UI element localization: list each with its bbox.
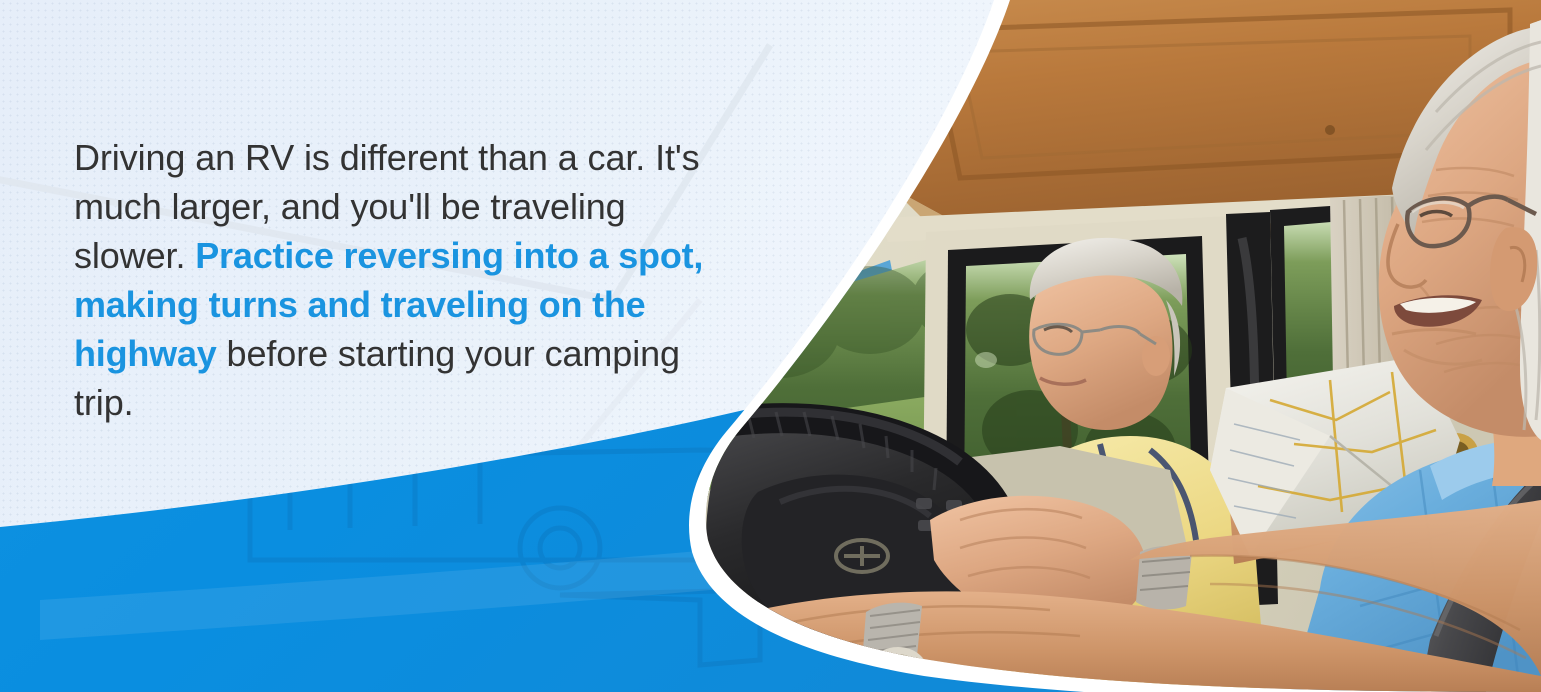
banner-copy: Driving an RV is different than a car. I… bbox=[74, 133, 734, 427]
rv-driving-tip-banner: Driving an RV is different than a car. I… bbox=[0, 0, 1541, 692]
